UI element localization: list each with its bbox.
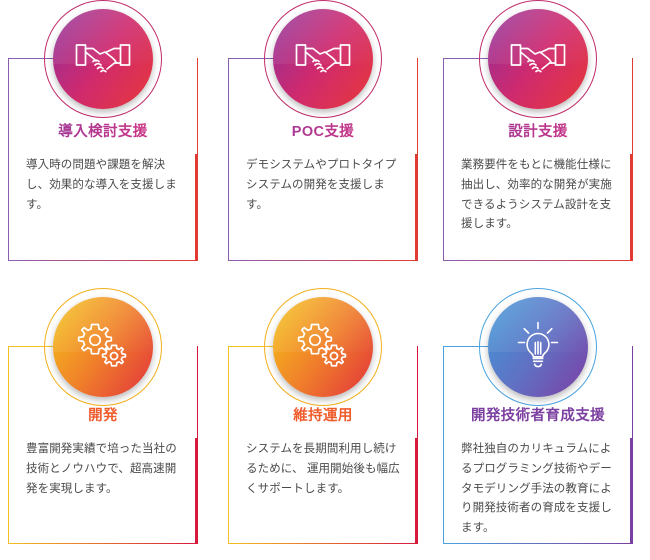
service-card-introduction-study-support[interactable]: 導入検討支援 導入時の問題や課題を解決し、効果的な導入を支援します。: [8, 0, 198, 275]
card-body: デモシステムやプロトタイプシステムの開発を支援します。: [246, 156, 402, 215]
card-title: 設計支援: [443, 120, 633, 141]
accent-bar: [195, 154, 198, 261]
handshake-icon: [479, 0, 597, 118]
card-title: 導入検討支援: [8, 120, 198, 141]
service-card-poc-support[interactable]: POC支援 デモシステムやプロトタイプシステムの開発を支援します。: [228, 0, 418, 275]
accent-bar: [195, 438, 198, 544]
card-badge: [264, 0, 382, 118]
frame-left-edge: [8, 346, 9, 544]
card-badge: [479, 288, 597, 406]
accent-bar: [415, 154, 418, 261]
frame-left-edge: [8, 58, 9, 261]
card-body: 豊富開発実績で培った当社の技術とノウハウで、超高速開発を実現します。: [26, 440, 182, 499]
accent-bar: [630, 438, 633, 544]
card-badge: [44, 0, 162, 118]
card-badge: [479, 0, 597, 118]
service-card-engineer-training-support[interactable]: 開発技術者育成支援 弊社独自のカリキュラムによるプログラミング技術やデータモデリ…: [443, 288, 633, 558]
gears-icon: [44, 288, 162, 406]
card-body: 弊社独自のカリキュラムによるプログラミング技術やデータモデリング手法の教育により…: [461, 440, 617, 539]
lightbulb-icon: [479, 288, 597, 406]
service-card-design-support[interactable]: 設計支援 業務要件をもとに機能仕様に抽出し、効率的な開発が実施できるようシステム…: [443, 0, 633, 275]
frame-bottom-edge: [443, 260, 633, 261]
frame-bottom-edge: [8, 260, 198, 261]
card-title: 維持運用: [228, 404, 418, 425]
card-title: 開発: [8, 404, 198, 425]
accent-bar: [415, 438, 418, 544]
card-badge: [44, 288, 162, 406]
service-card-development[interactable]: 開発 豊富開発実績で培った当社の技術とノウハウで、超高速開発を実現します。: [8, 288, 198, 558]
frame-left-edge: [228, 346, 229, 544]
frame-left-edge: [443, 346, 444, 544]
service-card-maintenance-operation[interactable]: 維持運用 システムを長期間利用し続けるために、 運用開始後も幅広くサポートします…: [228, 288, 418, 558]
frame-left-edge: [443, 58, 444, 261]
frame-bottom-edge: [443, 543, 633, 544]
card-badge: [264, 288, 382, 406]
frame-bottom-edge: [8, 543, 198, 544]
frame-bottom-edge: [228, 543, 418, 544]
card-body: システムを長期間利用し続けるために、 運用開始後も幅広くサポートします。: [246, 440, 402, 499]
service-card-grid: 導入検討支援 導入時の問題や課題を解決し、効果的な導入を支援します。: [0, 0, 650, 560]
card-body: 業務要件をもとに機能仕様に抽出し、効率的な開発が実施できるようシステム設計を支援…: [461, 156, 617, 235]
handshake-icon: [264, 0, 382, 118]
gears-icon: [264, 288, 382, 406]
frame-left-edge: [228, 58, 229, 261]
card-body: 導入時の問題や課題を解決し、効果的な導入を支援します。: [26, 156, 182, 215]
handshake-icon: [44, 0, 162, 118]
frame-bottom-edge: [228, 260, 418, 261]
accent-bar: [630, 154, 633, 261]
card-title: 開発技術者育成支援: [443, 404, 633, 425]
card-title: POC支援: [228, 120, 418, 141]
